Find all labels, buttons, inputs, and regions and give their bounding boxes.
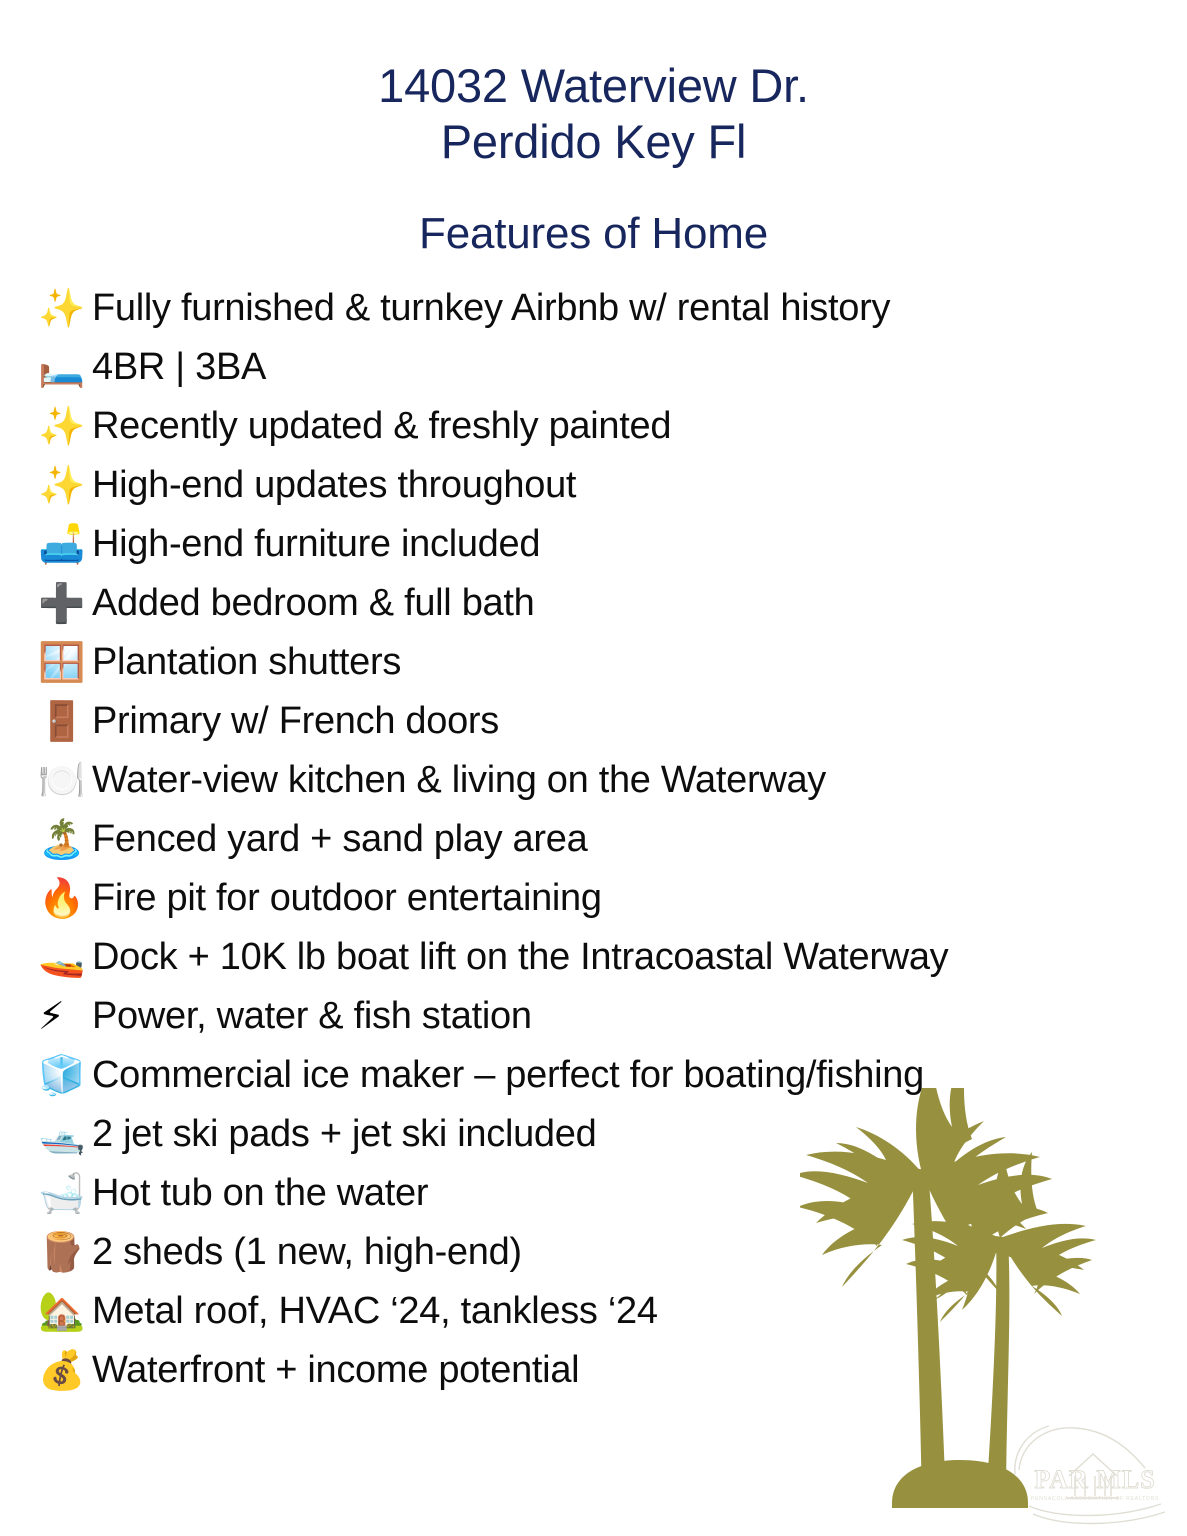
feature-text: Power, water & fish station xyxy=(92,992,532,1040)
section-title: Features of Home xyxy=(0,208,1187,260)
feature-text: High-end updates throughout xyxy=(92,461,576,509)
couch-and-lamp-icon: 🛋️ xyxy=(38,520,92,568)
feature-text: Dock + 10K lb boat lift on the Intracoas… xyxy=(92,933,948,981)
feature-text: Plantation shutters xyxy=(92,638,401,686)
feature-text: 2 sheds (1 new, high-end) xyxy=(92,1228,522,1276)
feature-item: ➕Added bedroom & full bath xyxy=(0,573,1187,632)
ice-cube-icon: 🧊 xyxy=(38,1051,92,1099)
feature-item: ✨Recently updated & freshly painted xyxy=(0,396,1187,455)
feature-text: Recently updated & freshly painted xyxy=(92,402,671,450)
feature-text: Fire pit for outdoor entertaining xyxy=(92,874,602,922)
feature-item: 🏝️Fenced yard + sand play area xyxy=(0,809,1187,868)
fork-and-knife-with-plate-icon: 🍽️ xyxy=(38,756,92,804)
feature-item: 🍽️Water-view kitchen & living on the Wat… xyxy=(0,750,1187,809)
feature-text: Fully furnished & turnkey Airbnb w/ rent… xyxy=(92,284,890,332)
feature-text: Added bedroom & full bath xyxy=(92,579,534,627)
money-bag-icon: 💰 xyxy=(38,1346,92,1394)
feature-text: Water-view kitchen & living on the Water… xyxy=(92,756,826,804)
door-icon: 🚪 xyxy=(38,697,92,745)
feature-item: 🛏️4BR | 3BA xyxy=(0,337,1187,396)
feature-item: 🚤Dock + 10K lb boat lift on the Intracoa… xyxy=(0,927,1187,986)
address-line-1: 14032 Waterview Dr. xyxy=(0,58,1187,114)
par-mls-watermark: PAR MLS PENSACOLA ASSOCIATION OF REALTOR… xyxy=(1005,1418,1185,1533)
page-header: 14032 Waterview Dr. Perdido Key Fl Featu… xyxy=(0,0,1187,260)
heavy-plus-sign-icon: ➕ xyxy=(38,579,92,627)
sparkles-icon: ✨ xyxy=(38,461,92,509)
feature-text: 2 jet ski pads + jet ski included xyxy=(92,1110,596,1158)
high-voltage-icon: ⚡ xyxy=(38,992,92,1040)
feature-item: ⚡Power, water & fish station xyxy=(0,986,1187,1045)
feature-item: 🔥Fire pit for outdoor entertaining xyxy=(0,868,1187,927)
feature-text: Fenced yard + sand play area xyxy=(92,815,587,863)
house-with-garden-icon: 🏡 xyxy=(38,1287,92,1335)
desert-island-icon: 🏝️ xyxy=(38,815,92,863)
sparkles-icon: ✨ xyxy=(38,402,92,450)
feature-item: ✨High-end updates throughout xyxy=(0,455,1187,514)
feature-item: 🚪Primary w/ French doors xyxy=(0,691,1187,750)
bed-icon: 🛏️ xyxy=(38,343,92,391)
feature-text: High-end furniture included xyxy=(92,520,540,568)
feature-text: Primary w/ French doors xyxy=(92,697,499,745)
feature-item: ✨Fully furnished & turnkey Airbnb w/ ren… xyxy=(0,278,1187,337)
sparkles-icon: ✨ xyxy=(38,284,92,332)
bathtub-icon: 🛁 xyxy=(38,1169,92,1217)
watermark-subtitle: PENSACOLA ASSOCIATION OF REALTORS xyxy=(1031,1496,1159,1502)
window-icon: 🪟 xyxy=(38,638,92,686)
wood-log-icon: 🪵 xyxy=(38,1228,92,1276)
motor-boat-icon: 🛥️ xyxy=(38,1110,92,1158)
fire-icon: 🔥 xyxy=(38,874,92,922)
address-line-2: Perdido Key Fl xyxy=(0,114,1187,170)
feature-text: Waterfront + income potential xyxy=(92,1346,579,1394)
feature-text: Hot tub on the water xyxy=(92,1169,428,1217)
feature-text: Metal roof, HVAC ‘24, tankless ‘24 xyxy=(92,1287,658,1335)
speedboat-icon: 🚤 xyxy=(38,933,92,981)
watermark-title: PAR MLS xyxy=(1034,1465,1155,1494)
feature-item: 🪟Plantation shutters xyxy=(0,632,1187,691)
feature-item: 🛋️High-end furniture included xyxy=(0,514,1187,573)
feature-text: 4BR | 3BA xyxy=(92,343,266,391)
